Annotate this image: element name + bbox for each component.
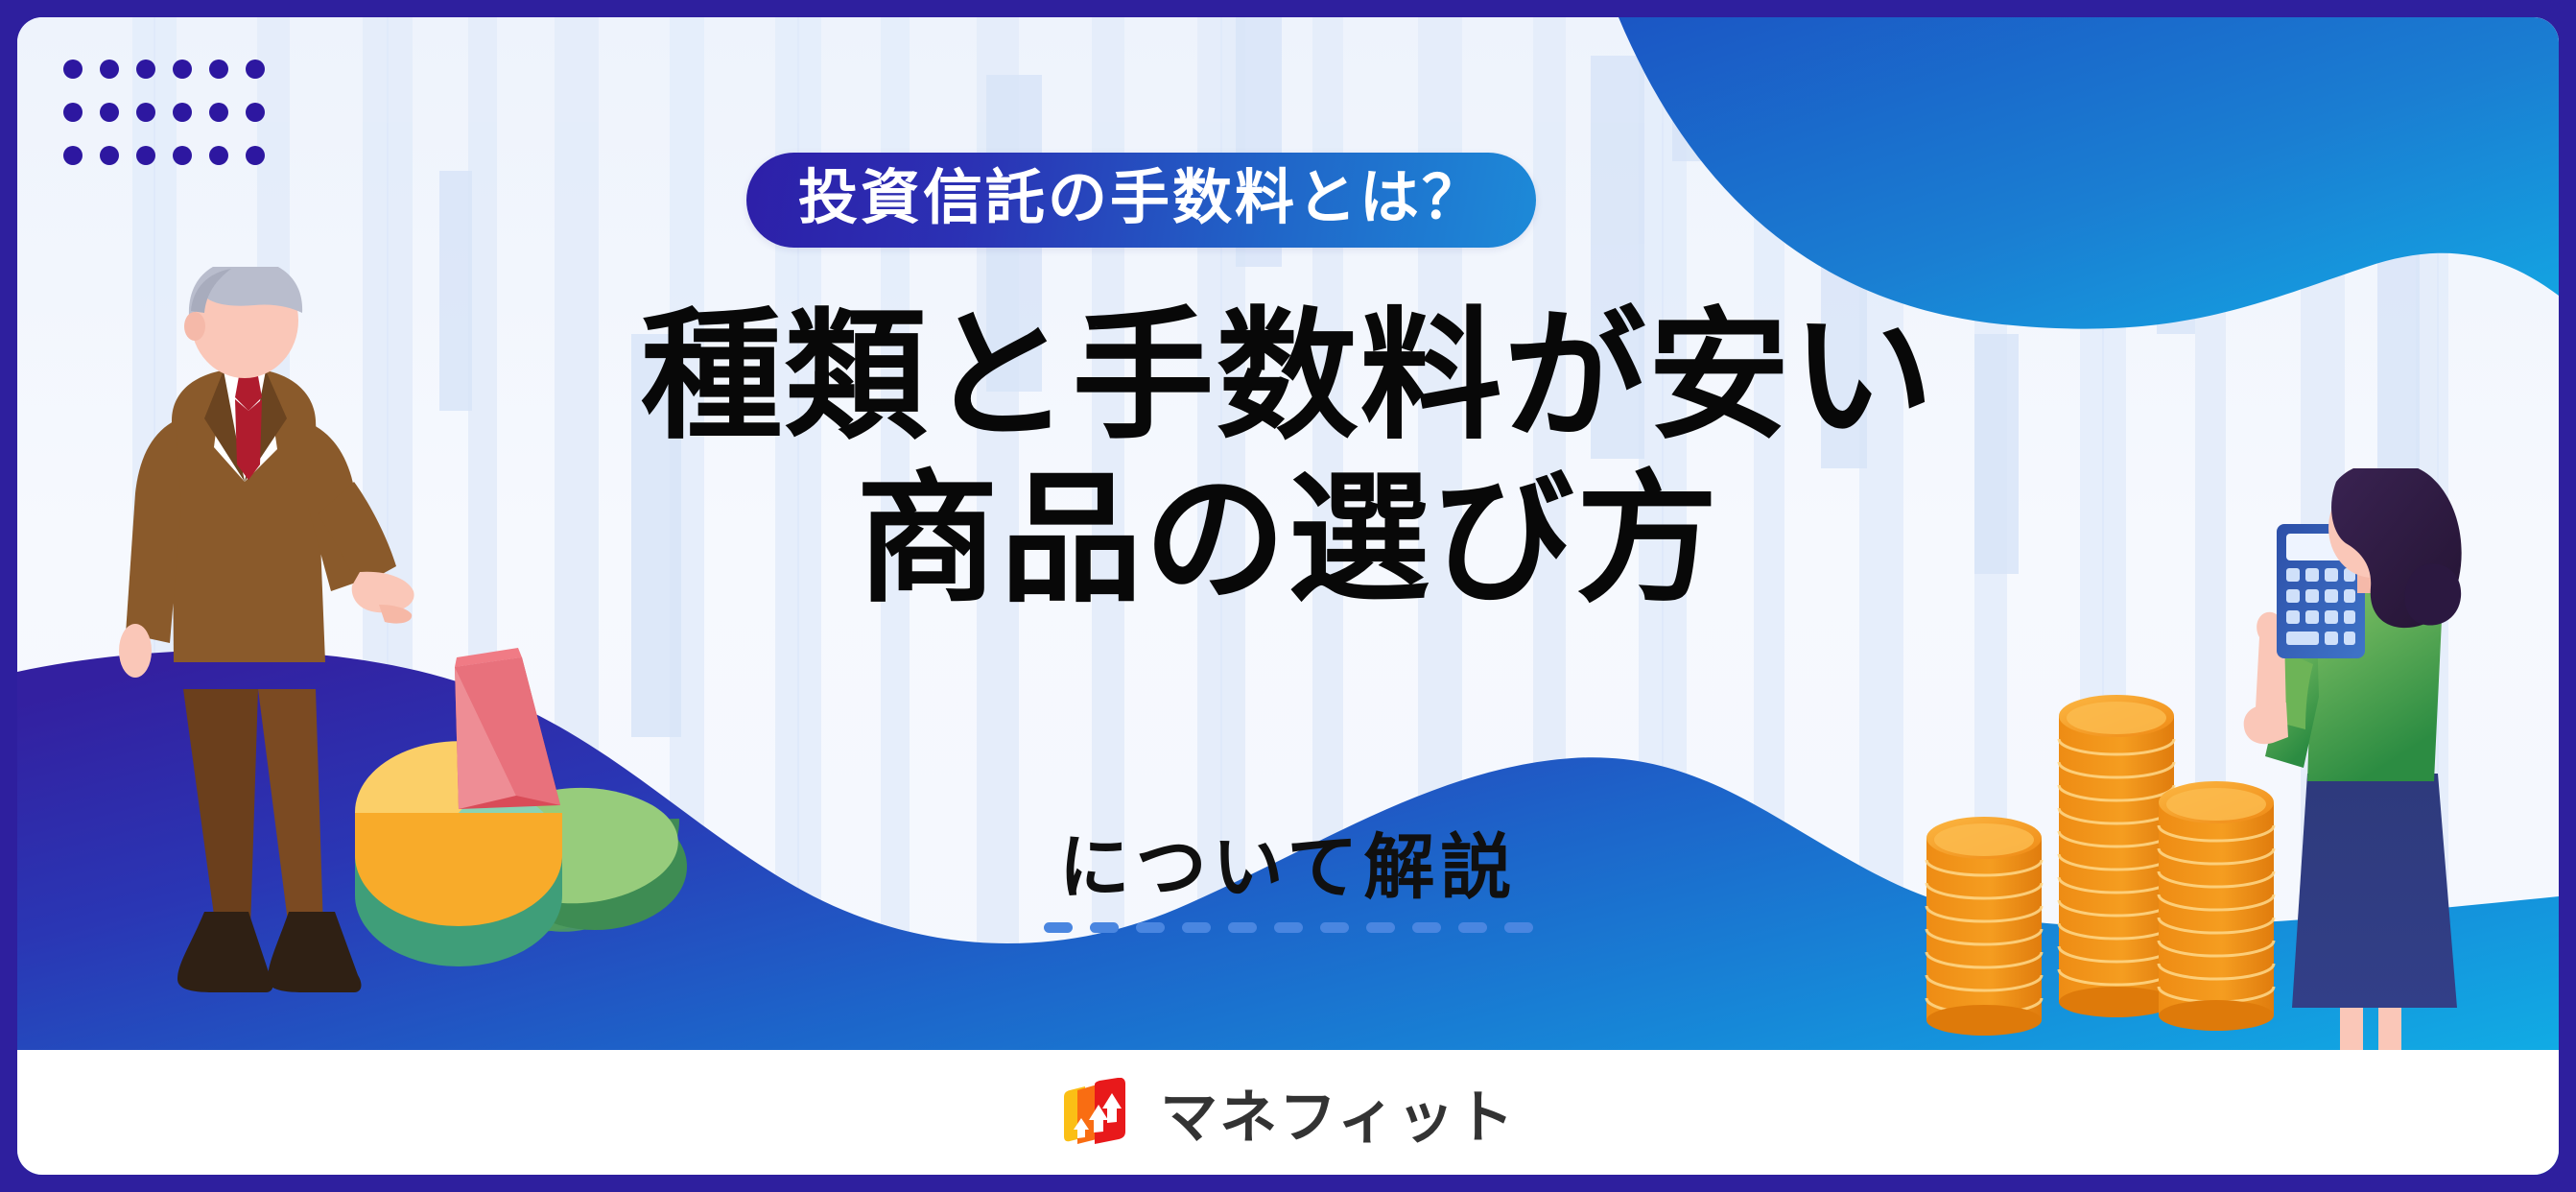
dash-segment: [1182, 922, 1211, 933]
page-title: 種類と手数料が安い 商品の選び方: [17, 305, 2559, 610]
dash-segment: [1274, 922, 1303, 933]
dash-segment: [1504, 922, 1533, 933]
brand-logo: マネフィット: [1060, 1071, 1516, 1155]
badge-text: 投資信託の手数料とは？: [798, 166, 1484, 228]
banner-root: 投資信託の手数料とは？ 種類と手数料が安い 商品の選び方 について解説: [0, 0, 2576, 1192]
manefit-logo-icon: [1060, 1078, 1139, 1147]
dash-segment: [1412, 922, 1441, 933]
banner-card: 投資信託の手数料とは？ 種類と手数料が安い 商品の選び方 について解説: [17, 17, 2559, 1175]
pie-chart-illustration: [334, 608, 689, 1011]
dash-segment: [1044, 922, 1073, 933]
dash-segment: [1320, 922, 1349, 933]
dash-segment: [1366, 922, 1395, 933]
headline-line-2: 商品の選び方: [17, 468, 2559, 610]
dash-segment: [1136, 922, 1165, 933]
subtitle-text: について解説: [1059, 810, 1518, 913]
logo-text: マネフィット: [1160, 1071, 1516, 1155]
decorative-dot-grid: [63, 60, 270, 170]
dashed-underline: [17, 922, 2559, 933]
dash-segment: [1458, 922, 1487, 933]
dash-segment: [1090, 922, 1119, 933]
logo-band: マネフィット: [17, 1050, 2559, 1175]
subtitle-block: について解説: [17, 810, 2559, 933]
headline-line-1: 種類と手数料が安い: [17, 305, 2559, 447]
dash-segment: [1228, 922, 1257, 933]
badge-label: 投資信託の手数料とは？: [746, 153, 1536, 248]
